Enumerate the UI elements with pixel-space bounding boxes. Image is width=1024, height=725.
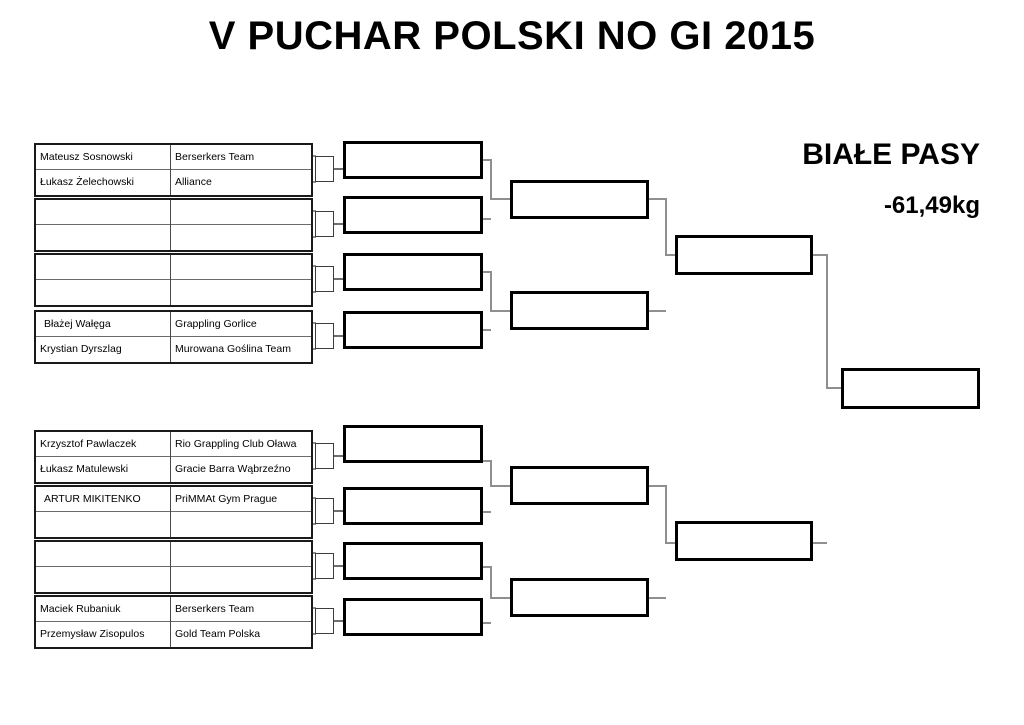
match-slot-round2[interactable] <box>343 425 483 463</box>
seed-pair-bottom-2[interactable]: ARTUR MIKITENKO PriMMAt Gym Prague <box>34 485 313 539</box>
competitor-name <box>36 567 171 592</box>
competitor-name <box>36 225 171 250</box>
competitor-team <box>171 512 311 537</box>
pair-join-box <box>315 608 334 634</box>
competitor-name: Błażej Wałęga <box>36 312 171 337</box>
seed-row[interactable]: Mateusz Sosnowski Berserkers Team <box>36 145 311 170</box>
seed-pair-top-2[interactable] <box>34 198 313 252</box>
category-belt-label: BIAŁE PASY <box>700 138 980 172</box>
match-slot-round2[interactable] <box>343 542 483 580</box>
competitor-team: Gracie Barra Wąbrzeźno <box>171 457 311 482</box>
seed-row[interactable]: ARTUR MIKITENKO PriMMAt Gym Prague <box>36 487 311 512</box>
match-slot-semifinal[interactable] <box>675 521 813 561</box>
match-slot-semifinal[interactable] <box>675 235 813 275</box>
seed-row[interactable] <box>36 200 311 225</box>
seed-pair-bottom-3[interactable] <box>34 540 313 594</box>
match-slot-round3[interactable] <box>510 291 649 330</box>
seed-row[interactable] <box>36 225 311 250</box>
pair-join-box <box>315 443 334 469</box>
competitor-team <box>171 567 311 592</box>
competitor-team: Alliance <box>171 170 311 195</box>
competitor-name <box>36 255 171 280</box>
competitor-team <box>171 225 311 250</box>
seed-pair-bottom-1[interactable]: Krzysztof Pawlaczek Rio Grappling Club O… <box>34 430 313 484</box>
competitor-name <box>36 200 171 225</box>
competitor-team: Murowana Goślina Team <box>171 337 311 362</box>
competitor-name: Krystian Dyrszlag <box>36 337 171 362</box>
competitor-team: Berserkers Team <box>171 145 311 170</box>
seed-pair-top-4[interactable]: Błażej Wałęga Grappling Gorlice Krystian… <box>34 310 313 364</box>
match-slot-round2[interactable] <box>343 487 483 525</box>
competitor-name: Przemysław Zisopulos <box>36 622 171 647</box>
pair-join-box <box>315 498 334 524</box>
pair-join-box <box>315 553 334 579</box>
tournament-bracket-page: V PUCHAR POLSKI NO GI 2015 BIAŁE PASY -6… <box>0 0 1024 725</box>
seed-row[interactable]: Łukasz Żelechowski Alliance <box>36 170 311 195</box>
competitor-name <box>36 542 171 567</box>
seed-row[interactable]: Krzysztof Pawlaczek Rio Grappling Club O… <box>36 432 311 457</box>
competitor-team <box>171 200 311 225</box>
competitor-name: Krzysztof Pawlaczek <box>36 432 171 457</box>
competitor-team: Gold Team Polska <box>171 622 311 647</box>
match-slot-round2[interactable] <box>343 311 483 349</box>
competitor-name <box>36 280 171 305</box>
match-slot-round2[interactable] <box>343 196 483 234</box>
competitor-name: Łukasz Żelechowski <box>36 170 171 195</box>
seed-row[interactable]: Błażej Wałęga Grappling Gorlice <box>36 312 311 337</box>
competitor-team <box>171 280 311 305</box>
match-slot-round3[interactable] <box>510 578 649 617</box>
seed-row[interactable]: Krystian Dyrszlag Murowana Goślina Team <box>36 337 311 362</box>
match-slot-round2[interactable] <box>343 253 483 291</box>
seed-pair-bottom-4[interactable]: Maciek Rubaniuk Berserkers Team Przemysł… <box>34 595 313 649</box>
competitor-team: Grappling Gorlice <box>171 312 311 337</box>
competitor-team: Rio Grappling Club Oława <box>171 432 311 457</box>
page-title: V PUCHAR POLSKI NO GI 2015 <box>0 14 1024 59</box>
seed-pair-top-3[interactable] <box>34 253 313 307</box>
competitor-name: Mateusz Sosnowski <box>36 145 171 170</box>
competitor-name: Maciek Rubaniuk <box>36 597 171 622</box>
match-slot-round2[interactable] <box>343 598 483 636</box>
pair-join-box <box>315 156 334 182</box>
seed-row[interactable] <box>36 542 311 567</box>
seed-pair-top-1[interactable]: Mateusz Sosnowski Berserkers Team Łukasz… <box>34 143 313 197</box>
seed-row[interactable] <box>36 255 311 280</box>
competitor-name: Łukasz Matulewski <box>36 457 171 482</box>
seed-row[interactable] <box>36 512 311 537</box>
competitor-name <box>36 512 171 537</box>
pair-join-box <box>315 211 334 237</box>
competitor-team: Berserkers Team <box>171 597 311 622</box>
seed-row[interactable] <box>36 567 311 592</box>
seed-row[interactable]: Przemysław Zisopulos Gold Team Polska <box>36 622 311 647</box>
seed-row[interactable] <box>36 280 311 305</box>
category-weight-label: -61,49kg <box>700 192 980 220</box>
match-slot-round3[interactable] <box>510 466 649 505</box>
seed-row[interactable]: Maciek Rubaniuk Berserkers Team <box>36 597 311 622</box>
competitor-name: ARTUR MIKITENKO <box>36 487 171 512</box>
seed-row[interactable]: Łukasz Matulewski Gracie Barra Wąbrzeźno <box>36 457 311 482</box>
competitor-team <box>171 255 311 280</box>
competitor-team <box>171 542 311 567</box>
pair-join-box <box>315 323 334 349</box>
match-slot-round3[interactable] <box>510 180 649 219</box>
competitor-team: PriMMAt Gym Prague <box>171 487 311 512</box>
pair-join-box <box>315 266 334 292</box>
match-slot-final[interactable] <box>841 368 980 409</box>
match-slot-round2[interactable] <box>343 141 483 179</box>
